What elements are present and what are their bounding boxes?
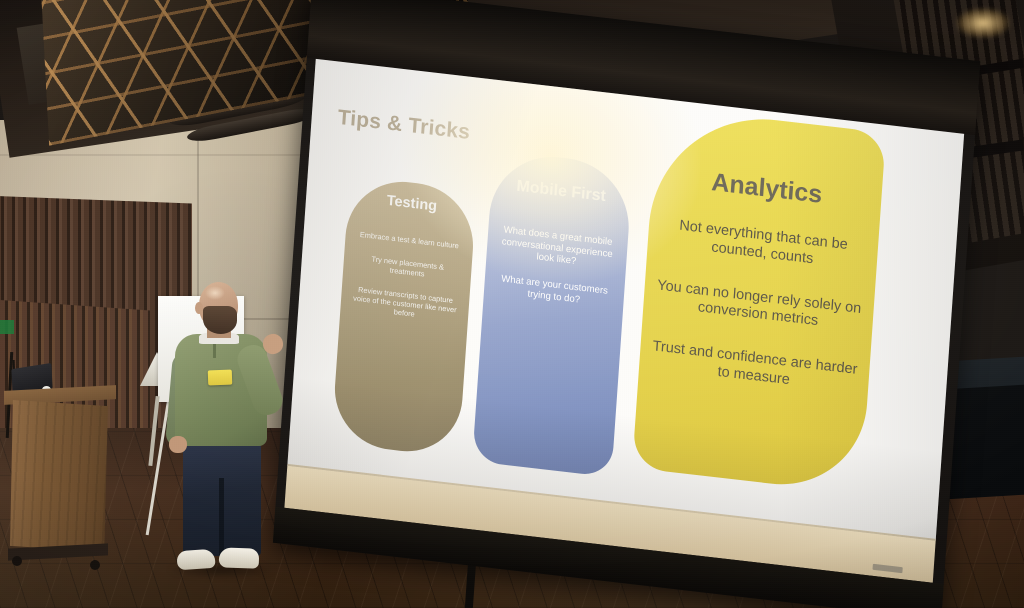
card-title-testing: Testing xyxy=(386,194,437,215)
presenter-ear xyxy=(195,302,203,314)
exit-sign xyxy=(0,320,14,334)
card-title-analytics: Analytics xyxy=(711,169,823,208)
slide-card-analytics: Analytics Not everything that can be cou… xyxy=(632,106,886,494)
slide-card-testing: Testing Embrace a test & learn culture T… xyxy=(331,175,477,457)
ceiling-lamp-glow xyxy=(956,8,1010,38)
slide-card-mobile-first: Mobile First What does a great mobile co… xyxy=(472,150,633,477)
slide-content: Tips & Tricks Testing Embrace a test & l… xyxy=(287,59,964,541)
projection-screen: Tips & Tricks Testing Embrace a test & l… xyxy=(273,0,980,608)
presenter-shoe-right xyxy=(219,547,260,568)
presenter-leg-gap xyxy=(219,478,224,556)
presenter-name-badge xyxy=(208,370,233,386)
card-line: What are your customers trying to do? xyxy=(496,273,613,310)
presenter-hand-left xyxy=(169,436,187,453)
card-line: Embrace a test & learn culture xyxy=(357,230,461,251)
card-line: You can no longer rely solely on convers… xyxy=(655,277,862,336)
card-line: Try new placements & treatments xyxy=(355,253,460,283)
presenter-beard xyxy=(203,306,237,334)
screen-surface: Tips & Tricks Testing Embrace a test & l… xyxy=(287,59,964,541)
presenter xyxy=(163,282,288,582)
presenter-shoe-left xyxy=(176,549,215,571)
card-body-mobile-first: What does a great mobile conversational … xyxy=(496,224,616,310)
card-title-mobile-first: Mobile First xyxy=(516,179,606,206)
lectern xyxy=(4,388,116,578)
lectern-caster-right xyxy=(90,560,100,570)
slide-title: Tips & Tricks xyxy=(337,106,471,145)
room-scene: Tips & Tricks Testing Embrace a test & l… xyxy=(0,0,1024,608)
card-line: Review transcripts to capture voice of t… xyxy=(352,285,457,324)
card-body-testing: Embrace a test & learn culture Try new p… xyxy=(352,230,461,324)
card-body-analytics: Not everything that can be counted, coun… xyxy=(651,216,867,397)
lectern-body xyxy=(10,400,108,552)
card-line: Not everything that can be counted, coun… xyxy=(659,216,866,275)
lectern-caster-left xyxy=(12,556,22,566)
card-line: Trust and confidence are harder to measu… xyxy=(651,338,858,397)
card-line: What does a great mobile conversational … xyxy=(498,224,616,272)
